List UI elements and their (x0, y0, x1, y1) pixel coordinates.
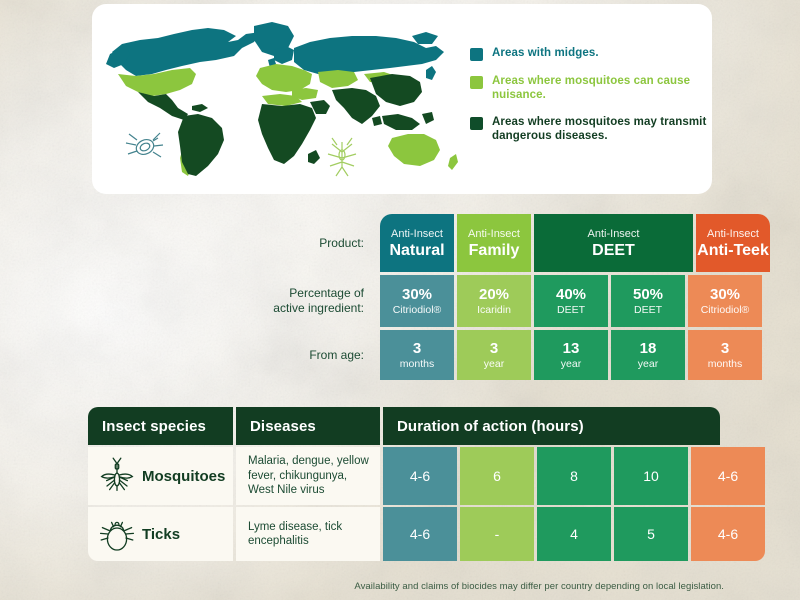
spec-label-percentage-line1: Percentage of (289, 286, 364, 301)
table-cell-diseases-ticks: Lyme disease, tick encephalitis (236, 507, 380, 561)
spec-label-from-age-line1: From age: (309, 348, 364, 363)
footnote: Availability and claims of biocides may … (0, 581, 800, 592)
table-header-diseases: Diseases (236, 407, 380, 445)
age-value-anti-teek: 3 (721, 340, 729, 358)
duration-cells-mosquitoes: 4-6 6 8 10 4-6 (383, 447, 765, 505)
product-prefix-anti-teek: Anti-Insect (707, 227, 759, 241)
product-cell-family[interactable]: Anti-Insect Family (457, 214, 531, 272)
table-row: Ticks Lyme disease, tick encephalitis 4-… (88, 507, 720, 561)
table-cell-diseases-mosquitoes: Malaria, dengue, yellow fever, chikungun… (236, 447, 380, 505)
duration-mosquitoes-anti-teek: 4-6 (691, 447, 765, 505)
spec-cells-from-age: 3 months 3 year 13 year 18 year 3 mont (380, 330, 800, 380)
legend-label-diseases: Areas where mosquitoes may transmit dang… (492, 115, 710, 143)
product-prefix-natural: Anti-Insect (391, 227, 443, 241)
duration-cells-ticks: 4-6 - 4 5 4-6 (383, 507, 765, 561)
map-card: Areas with midges. Areas where mosquitoe… (92, 4, 712, 194)
duration-mosquitoes-natural: 4-6 (383, 447, 457, 505)
age-unit-anti-teek: months (708, 358, 742, 371)
product-name-natural: Natural (389, 241, 444, 260)
product-cell-natural[interactable]: Anti-Insect Natural (380, 214, 454, 272)
spec-row-from-age: From age: 3 months 3 year 13 year 18 yea… (0, 330, 800, 380)
mosquito-icon (96, 455, 138, 497)
percentage-value-family: 20% (479, 286, 509, 304)
legend-item-midges: Areas with midges. (470, 46, 710, 61)
duration-ticks-family: - (460, 507, 534, 561)
age-cell-family: 3 year (457, 330, 531, 380)
legend-label-midges: Areas with midges. (492, 46, 599, 60)
spec-label-from-age: From age: (0, 330, 380, 380)
world-map (96, 12, 466, 188)
ingredient-name-deet-50: DEET (634, 304, 662, 317)
legend-item-diseases: Areas where mosquitoes may transmit dang… (470, 115, 710, 143)
spec-cells-product: Anti-Insect Natural Anti-Insect Family A… (380, 214, 800, 272)
spec-cells-percentage: 30% Citriodiol® 20% Icaridin 40% DEET 50… (380, 275, 800, 327)
age-cell-deet-50: 18 year (611, 330, 685, 380)
tick-icon (96, 513, 138, 555)
product-prefix-deet: Anti-Insect (588, 227, 640, 241)
legend-swatch-dark-green (470, 117, 483, 130)
product-name-anti-teek: Anti-Teek (697, 241, 769, 260)
spec-label-percentage-line2: active ingredient: (273, 301, 364, 316)
percentage-cell-deet-50: 50% DEET (611, 275, 685, 327)
infographic-page: Areas with midges. Areas where mosquitoe… (0, 0, 800, 600)
age-value-deet-40: 13 (563, 340, 580, 358)
table-header-duration: Duration of action (hours) (383, 407, 720, 445)
product-name-family: Family (469, 241, 520, 260)
percentage-cell-natural: 30% Citriodiol® (380, 275, 454, 327)
ingredient-name-deet-40: DEET (557, 304, 585, 317)
legend-item-nuisance: Areas where mosquitoes can cause nuisanc… (470, 74, 710, 102)
species-label-ticks: Ticks (142, 526, 180, 543)
percentage-value-anti-teek: 30% (710, 286, 740, 304)
duration-mosquitoes-deet-40: 8 (537, 447, 611, 505)
spec-label-product-line1: Product: (319, 236, 364, 251)
ingredient-name-anti-teek: Citriodiol® (701, 304, 750, 317)
table-cell-species-mosquitoes: Mosquitoes (88, 447, 233, 505)
tick-doodle-icon (126, 133, 163, 157)
product-cell-deet[interactable]: Anti-Insect DEET (534, 214, 693, 272)
age-value-deet-50: 18 (640, 340, 657, 358)
map-legend: Areas with midges. Areas where mosquitoe… (470, 46, 710, 156)
table-row: Mosquitoes Malaria, dengue, yellow fever… (88, 447, 720, 505)
percentage-value-deet-40: 40% (556, 286, 586, 304)
age-cell-natural: 3 months (380, 330, 454, 380)
spec-label-product: Product: (0, 214, 380, 272)
product-cell-anti-teek[interactable]: Anti-Insect Anti-Teek (696, 214, 770, 272)
percentage-value-natural: 30% (402, 286, 432, 304)
age-unit-deet-40: year (561, 358, 581, 371)
percentage-cell-family: 20% Icaridin (457, 275, 531, 327)
table-header-row: Insect species Diseases Duration of acti… (88, 407, 720, 445)
product-prefix-family: Anti-Insect (468, 227, 520, 241)
ingredient-name-family: Icaridin (477, 304, 511, 317)
duration-mosquitoes-deet-50: 10 (614, 447, 688, 505)
age-unit-natural: months (400, 358, 434, 371)
species-label-mosquitoes: Mosquitoes (142, 468, 225, 485)
spec-row-percentage: Percentage of active ingredient: 30% Cit… (0, 275, 800, 327)
age-unit-deet-50: year (638, 358, 658, 371)
age-value-family: 3 (490, 340, 498, 358)
table-header-insect-species: Insect species (88, 407, 233, 445)
legend-label-nuisance: Areas where mosquitoes can cause nuisanc… (492, 74, 710, 102)
percentage-value-deet-50: 50% (633, 286, 663, 304)
duration-ticks-anti-teek: 4-6 (691, 507, 765, 561)
percentage-cell-deet-40: 40% DEET (534, 275, 608, 327)
age-cell-deet-40: 13 year (534, 330, 608, 380)
ingredient-name-natural: Citriodiol® (393, 304, 442, 317)
mosquito-doodle-icon (328, 138, 356, 176)
age-cell-anti-teek: 3 months (688, 330, 762, 380)
duration-ticks-natural: 4-6 (383, 507, 457, 561)
age-value-natural: 3 (413, 340, 421, 358)
duration-ticks-deet-40: 4 (537, 507, 611, 561)
legend-swatch-light-green (470, 76, 483, 89)
duration-ticks-deet-50: 5 (614, 507, 688, 561)
table-cell-species-ticks: Ticks (88, 507, 233, 561)
duration-mosquitoes-family: 6 (460, 447, 534, 505)
spec-row-product: Product: Anti-Insect Natural Anti-Insect… (0, 214, 800, 272)
legend-swatch-teal (470, 48, 483, 61)
spec-label-percentage: Percentage of active ingredient: (0, 275, 380, 327)
age-unit-family: year (484, 358, 504, 371)
product-name-deet: DEET (592, 241, 635, 260)
product-spec-grid: Product: Anti-Insect Natural Anti-Insect… (0, 214, 800, 380)
percentage-cell-anti-teek: 30% Citriodiol® (688, 275, 762, 327)
insect-comparison-table: Insect species Diseases Duration of acti… (88, 407, 720, 561)
